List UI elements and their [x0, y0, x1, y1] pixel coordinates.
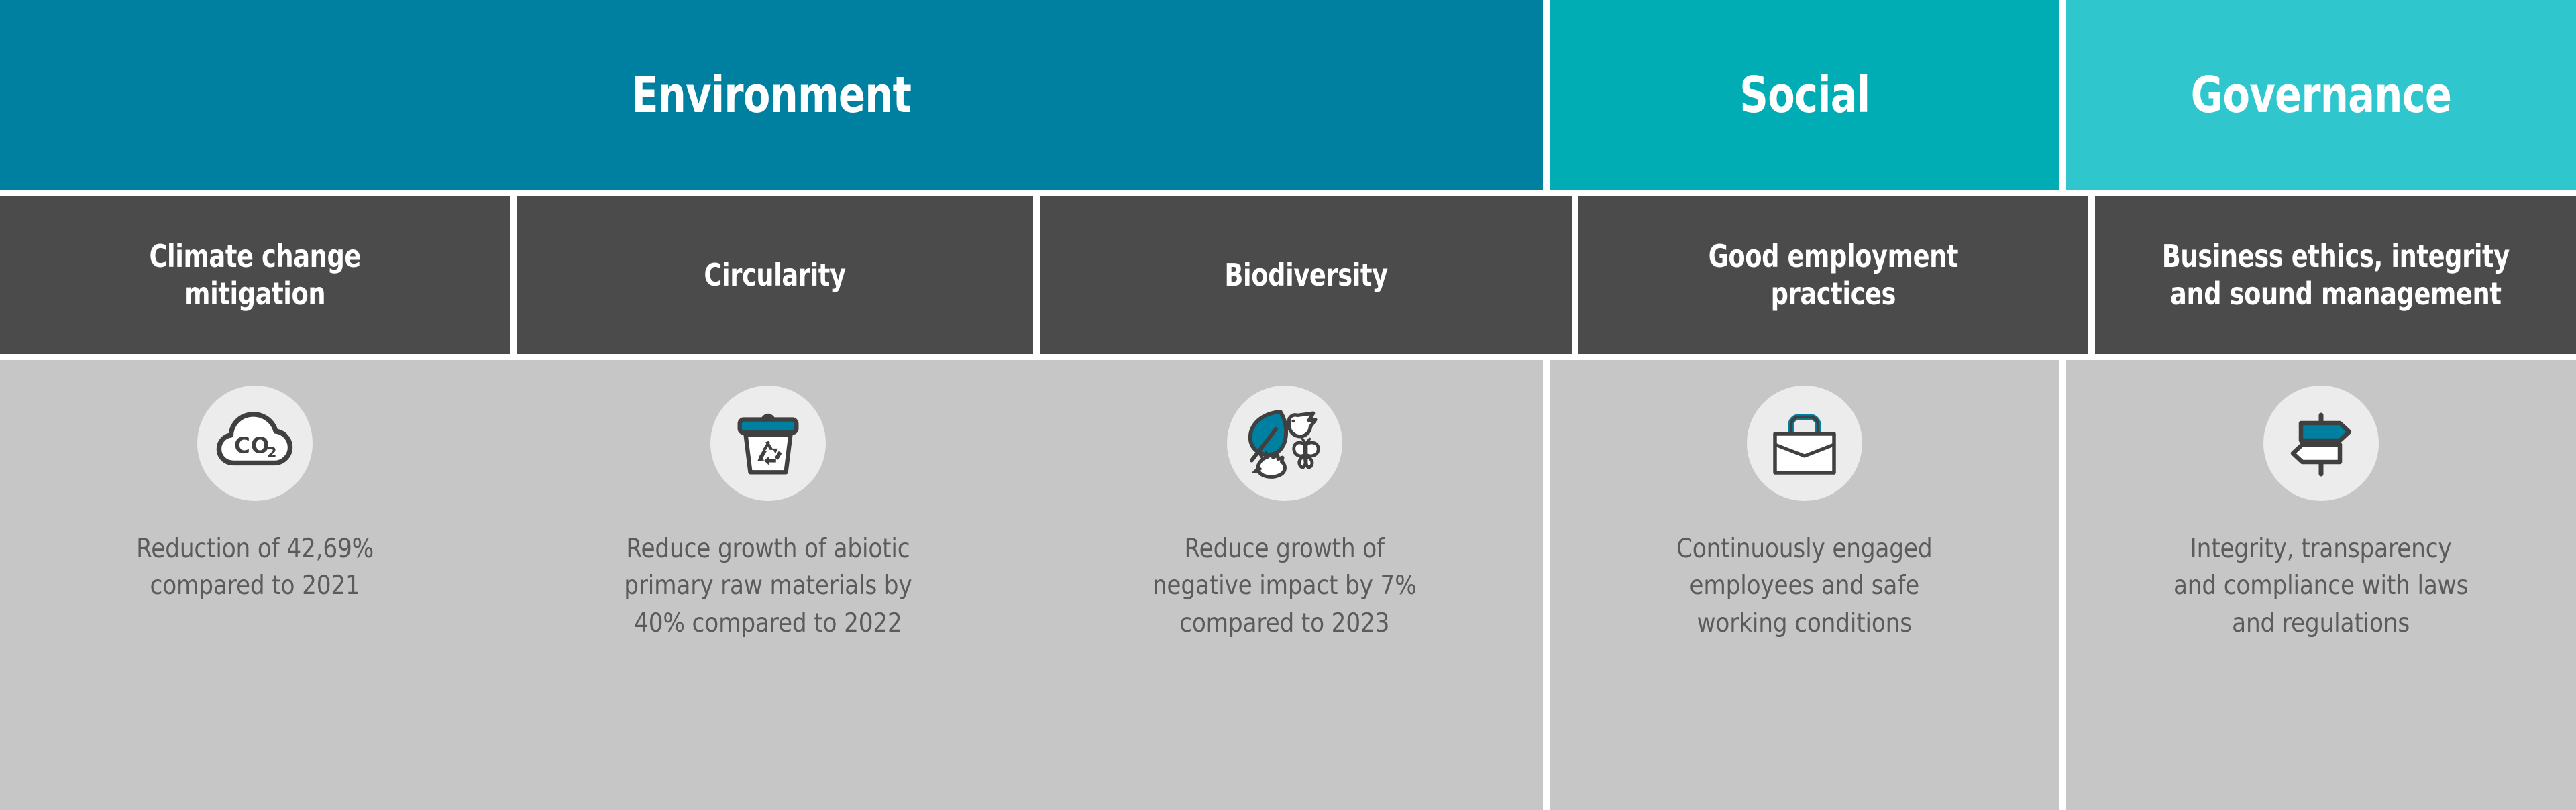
- pillar-header-governance: Governance: [2066, 0, 2576, 190]
- content-group-environment: CO 2 Reduction of 42,69% compared to 202…: [0, 360, 1543, 810]
- pillar-header-row: Environment Social Governance: [0, 0, 2576, 190]
- content-cell-business-ethics: Integrity, transparency and compliance w…: [2066, 360, 2576, 810]
- bird-shape: [1289, 413, 1315, 437]
- butterfly-shape: [1294, 439, 1318, 467]
- briefcase-icon: [1747, 386, 1862, 501]
- topic-cell-biodiversity: Biodiversity: [1040, 196, 1572, 354]
- pillar-header-social: Social: [1550, 0, 2059, 190]
- description-climate-change-mitigation: Reduction of 42,69% compared to 2021: [136, 530, 374, 605]
- topic-label-circularity: Circularity: [704, 256, 845, 294]
- co2-cloud-icon: CO 2: [197, 386, 313, 501]
- topic-label-biodiversity: Biodiversity: [1224, 256, 1387, 294]
- pillar-header-environment: Environment: [0, 0, 1543, 190]
- content-row: CO 2 Reduction of 42,69% compared to 202…: [0, 360, 2576, 810]
- topic-cell-circularity: Circularity: [517, 196, 1033, 354]
- topic-cell-climate-change-mitigation: Climate change mitigation: [0, 196, 510, 354]
- pillar-title-governance: Governance: [2191, 66, 2452, 124]
- nature-leaf-bird-butterfly-hedgehog-icon: [1227, 386, 1342, 501]
- hedgehog-shape: [1254, 452, 1285, 477]
- description-biodiversity: Reduce growth of negative impact by 7% c…: [1152, 530, 1417, 642]
- row-divider: [0, 354, 2576, 360]
- topic-header-row: Climate change mitigation Circularity Bi…: [0, 196, 2576, 354]
- topic-label-climate-change-mitigation: Climate change mitigation: [149, 237, 361, 312]
- description-business-ethics: Integrity, transparency and compliance w…: [2173, 530, 2468, 642]
- topic-label-good-employment-practices: Good employment practices: [1709, 237, 1959, 312]
- pillar-title-environment: Environment: [632, 66, 912, 124]
- topic-cell-good-employment-practices: Good employment practices: [1578, 196, 2088, 354]
- content-group-governance: Integrity, transparency and compliance w…: [2066, 360, 2576, 810]
- svg-text:CO: CO: [234, 433, 270, 459]
- content-group-social: Continuously engaged employees and safe …: [1550, 360, 2059, 810]
- topic-label-business-ethics: Business ethics, integrity and sound man…: [2162, 237, 2510, 312]
- content-cell-good-employment-practices: Continuously engaged employees and safe …: [1550, 360, 2059, 810]
- svg-text:2: 2: [267, 445, 277, 461]
- description-good-employment-practices: Continuously engaged employees and safe …: [1676, 530, 1932, 642]
- content-cell-climate-change-mitigation: CO 2 Reduction of 42,69% compared to 202…: [0, 360, 510, 810]
- content-cell-biodiversity: Reduce growth of negative impact by 7% c…: [1026, 360, 1543, 810]
- description-circularity: Reduce growth of abiotic primary raw mat…: [624, 530, 912, 642]
- content-cell-circularity: Reduce growth of abiotic primary raw mat…: [510, 360, 1026, 810]
- row-divider: [0, 190, 2576, 196]
- recycle-bin-icon: [710, 386, 826, 501]
- leaf-shape: [1250, 412, 1286, 461]
- esg-framework-board: Environment Social Governance Climate ch…: [0, 0, 2576, 810]
- signpost-icon: [2263, 386, 2379, 501]
- topic-cell-business-ethics: Business ethics, integrity and sound man…: [2095, 196, 2576, 354]
- pillar-title-social: Social: [1739, 66, 1870, 124]
